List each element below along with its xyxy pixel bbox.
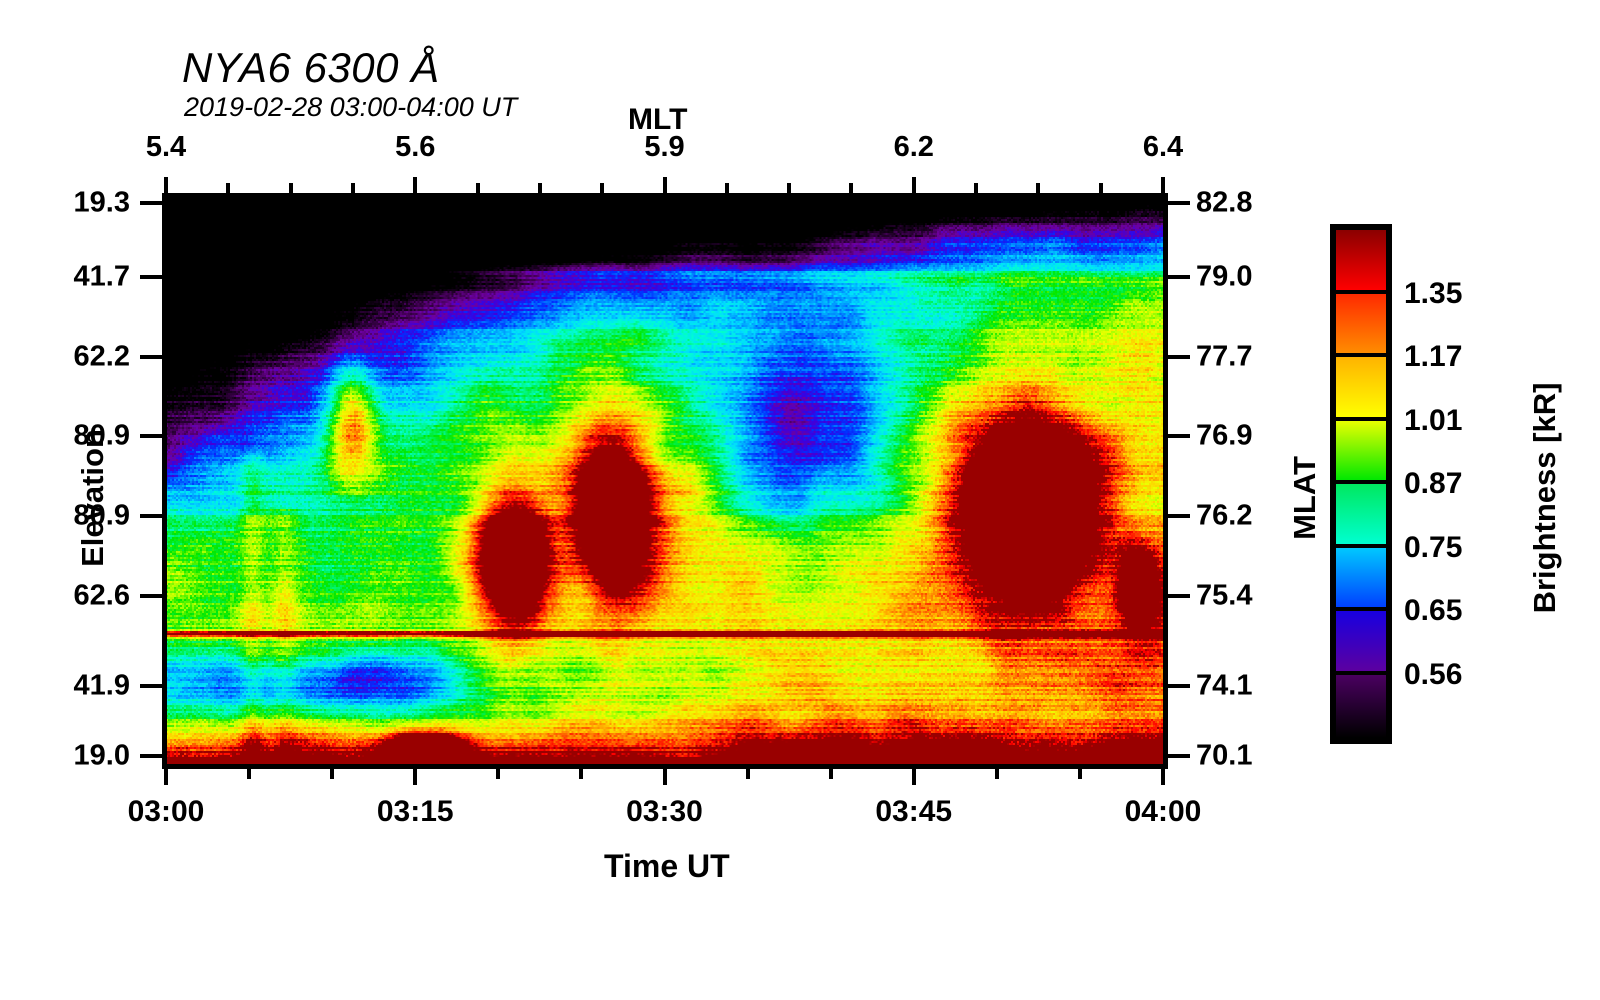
tick-label-top-2: 5.9 <box>585 131 745 164</box>
tick-top-2 <box>663 177 667 193</box>
tick-left-2 <box>140 355 162 359</box>
colorbar-segment-6 <box>1336 611 1386 675</box>
tick-label-left-6: 41.9 <box>10 670 130 703</box>
tick-right-3 <box>1168 434 1190 438</box>
colorbar-segment-4 <box>1336 484 1386 548</box>
tick-left-4 <box>140 514 162 518</box>
tick-label-top-1: 5.6 <box>335 131 495 164</box>
colorbar-segment-3 <box>1336 421 1386 485</box>
tick-label-top-0: 5.4 <box>86 131 246 164</box>
tick-top-minor-3-3 <box>1099 183 1103 193</box>
tick-top-minor-2-1 <box>725 183 729 193</box>
tick-label-bottom-3: 03:45 <box>824 795 1004 829</box>
colorbar-label-1: 1.17 <box>1404 340 1462 374</box>
tick-right-6 <box>1168 684 1190 688</box>
tick-left-7 <box>140 754 162 758</box>
tick-label-left-0: 19.3 <box>10 186 130 219</box>
colorbar-label-6: 0.56 <box>1404 658 1462 692</box>
colorbar-label-2: 1.01 <box>1404 404 1462 438</box>
colorbar-label-4: 0.75 <box>1404 531 1462 565</box>
colorbar-segment-0 <box>1336 230 1386 294</box>
tick-label-top-3: 6.2 <box>834 131 994 164</box>
tick-right-0 <box>1168 201 1190 205</box>
tick-left-0 <box>140 201 162 205</box>
axis-spine-top <box>162 193 1168 198</box>
tick-bottom-minor-0-1 <box>247 769 251 779</box>
tick-label-bottom-1: 03:15 <box>325 795 505 829</box>
tick-label-right-7: 70.1 <box>1196 739 1336 772</box>
tick-top-minor-1-1 <box>476 183 480 193</box>
tick-label-left-5: 62.6 <box>10 580 130 613</box>
tick-top-minor-0-1 <box>226 183 230 193</box>
colorbar-segment-2 <box>1336 357 1386 421</box>
tick-label-bottom-2: 03:30 <box>575 795 755 829</box>
tick-top-0 <box>164 177 168 193</box>
tick-bottom-minor-3-2 <box>1078 769 1082 779</box>
colorbar-segment-7 <box>1336 675 1386 739</box>
tick-right-1 <box>1168 275 1190 279</box>
keogram-plot-area[interactable] <box>166 197 1163 765</box>
time-axis-title: Time UT <box>604 848 730 885</box>
tick-label-left-1: 41.7 <box>10 260 130 293</box>
tick-label-right-1: 79.0 <box>1196 260 1336 293</box>
colorbar[interactable] <box>1330 224 1392 744</box>
tick-label-bottom-4: 04:00 <box>1073 795 1253 829</box>
tick-bottom-minor-0-2 <box>330 769 334 779</box>
tick-label-right-6: 74.1 <box>1196 670 1336 703</box>
tick-right-2 <box>1168 355 1190 359</box>
tick-label-right-4: 76.2 <box>1196 500 1336 533</box>
colorbar-gradient <box>1336 230 1386 738</box>
tick-top-4 <box>1161 177 1165 193</box>
tick-top-minor-3-2 <box>1036 183 1040 193</box>
tick-label-left-3: 80.9 <box>10 420 130 453</box>
tick-bottom-3 <box>912 769 916 785</box>
tick-top-minor-3-1 <box>974 183 978 193</box>
page-subtitle: 2019-02-28 03:00-04:00 UT <box>184 92 517 123</box>
tick-label-left-2: 62.2 <box>10 340 130 373</box>
tick-top-minor-2-3 <box>849 183 853 193</box>
tick-right-7 <box>1168 754 1190 758</box>
tick-label-bottom-0: 03:00 <box>76 795 256 829</box>
colorbar-label-5: 0.65 <box>1404 594 1462 628</box>
colorbar-segment-1 <box>1336 294 1386 358</box>
tick-label-top-4: 6.4 <box>1083 131 1243 164</box>
tick-label-right-3: 76.9 <box>1196 420 1336 453</box>
tick-left-3 <box>140 434 162 438</box>
tick-right-5 <box>1168 594 1190 598</box>
colorbar-title: Brightness [kR] <box>1527 338 1563 658</box>
colorbar-label-3: 0.87 <box>1404 467 1462 501</box>
tick-bottom-4 <box>1161 769 1165 785</box>
tick-bottom-minor-3-1 <box>995 769 999 779</box>
tick-left-6 <box>140 684 162 688</box>
colorbar-label-0: 1.35 <box>1404 277 1462 311</box>
tick-bottom-minor-2-2 <box>829 769 833 779</box>
tick-top-minor-0-2 <box>289 183 293 193</box>
axis-spine-left <box>162 193 167 769</box>
tick-top-1 <box>413 177 417 193</box>
tick-left-1 <box>140 275 162 279</box>
tick-bottom-minor-1-1 <box>496 769 500 779</box>
tick-top-minor-0-3 <box>351 183 355 193</box>
keogram-image <box>166 197 1163 765</box>
tick-left-5 <box>140 594 162 598</box>
tick-top-minor-1-3 <box>600 183 604 193</box>
tick-bottom-2 <box>663 769 667 785</box>
tick-bottom-0 <box>164 769 168 785</box>
tick-bottom-minor-2-1 <box>746 769 750 779</box>
tick-bottom-1 <box>413 769 417 785</box>
tick-right-4 <box>1168 514 1190 518</box>
tick-label-right-2: 77.7 <box>1196 340 1336 373</box>
tick-label-left-7: 19.0 <box>10 739 130 772</box>
axis-spine-right <box>1163 193 1168 769</box>
tick-top-minor-2-2 <box>787 183 791 193</box>
tick-label-right-5: 75.4 <box>1196 580 1336 613</box>
page-title: NYA6 6300 Å <box>182 44 440 92</box>
tick-top-minor-1-2 <box>538 183 542 193</box>
tick-top-3 <box>912 177 916 193</box>
colorbar-segment-5 <box>1336 548 1386 612</box>
tick-label-right-0: 82.8 <box>1196 186 1336 219</box>
tick-label-left-4: 80.9 <box>10 500 130 533</box>
tick-bottom-minor-1-2 <box>579 769 583 779</box>
